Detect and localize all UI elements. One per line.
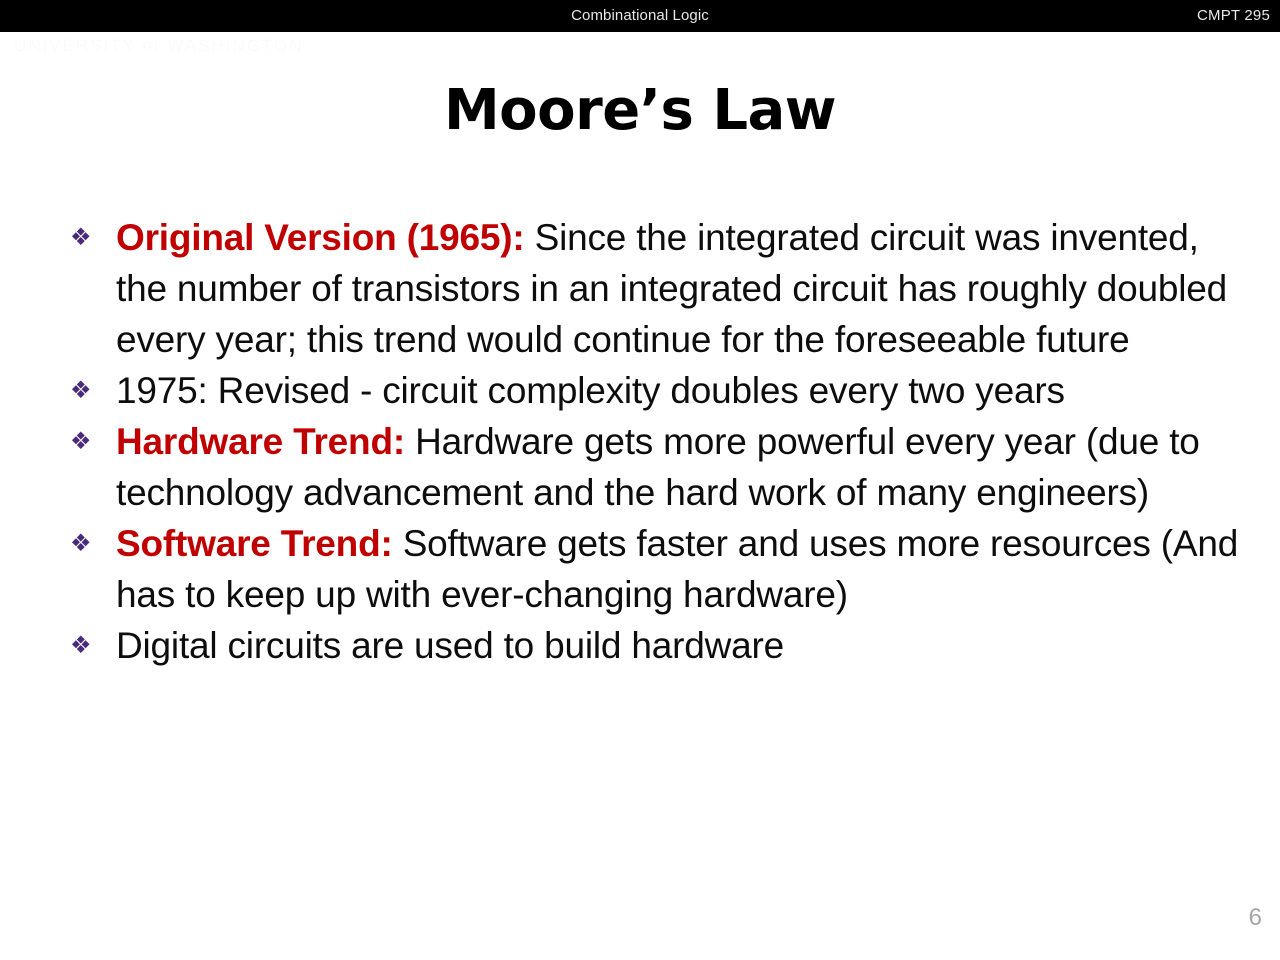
slide-page-number: 6 — [1249, 904, 1262, 932]
list-item-body: 1975: Revised - circuit complexity doubl… — [116, 370, 1065, 411]
bullet-list: ❖ Original Version (1965): Since the int… — [62, 212, 1242, 671]
slide-header-bar: Combinational Logic CMPT 295 — [0, 0, 1280, 32]
list-item-lead: Hardware Trend: — [116, 421, 405, 462]
list-item: ❖ 1975: Revised - circuit complexity dou… — [62, 365, 1242, 416]
list-item-body: Digital circuits are used to build hardw… — [116, 625, 784, 666]
list-item-lead: Software Trend: — [116, 523, 393, 564]
list-item: ❖ Software Trend: Software gets faster a… — [62, 518, 1242, 620]
list-item-text: Hardware Trend: Hardware gets more power… — [116, 416, 1242, 518]
list-item: ❖ Hardware Trend: Hardware gets more pow… — [62, 416, 1242, 518]
diamond-bullet-icon: ❖ — [62, 416, 116, 467]
list-item-text: Original Version (1965): Since the integ… — [116, 212, 1242, 365]
list-item: ❖ Digital circuits are used to build har… — [62, 620, 1242, 671]
list-item: ❖ Original Version (1965): Since the int… — [62, 212, 1242, 365]
diamond-bullet-icon: ❖ — [62, 620, 116, 671]
diamond-bullet-icon: ❖ — [62, 365, 116, 416]
list-item-lead: Original Version (1965): — [116, 217, 525, 258]
list-item-text: Digital circuits are used to build hardw… — [116, 620, 1242, 671]
header-topic-title: Combinational Logic — [0, 0, 1280, 32]
diamond-bullet-icon: ❖ — [62, 212, 116, 263]
list-item-text: Software Trend: Software gets faster and… — [116, 518, 1242, 620]
diamond-bullet-icon: ❖ — [62, 518, 116, 569]
page-title: Moore’s Law — [0, 78, 1280, 143]
list-item-text: 1975: Revised - circuit complexity doubl… — [116, 365, 1242, 416]
university-watermark: UNIVERSITY of WASHINGTON — [14, 36, 304, 56]
header-course-code: CMPT 295 — [1197, 0, 1270, 32]
